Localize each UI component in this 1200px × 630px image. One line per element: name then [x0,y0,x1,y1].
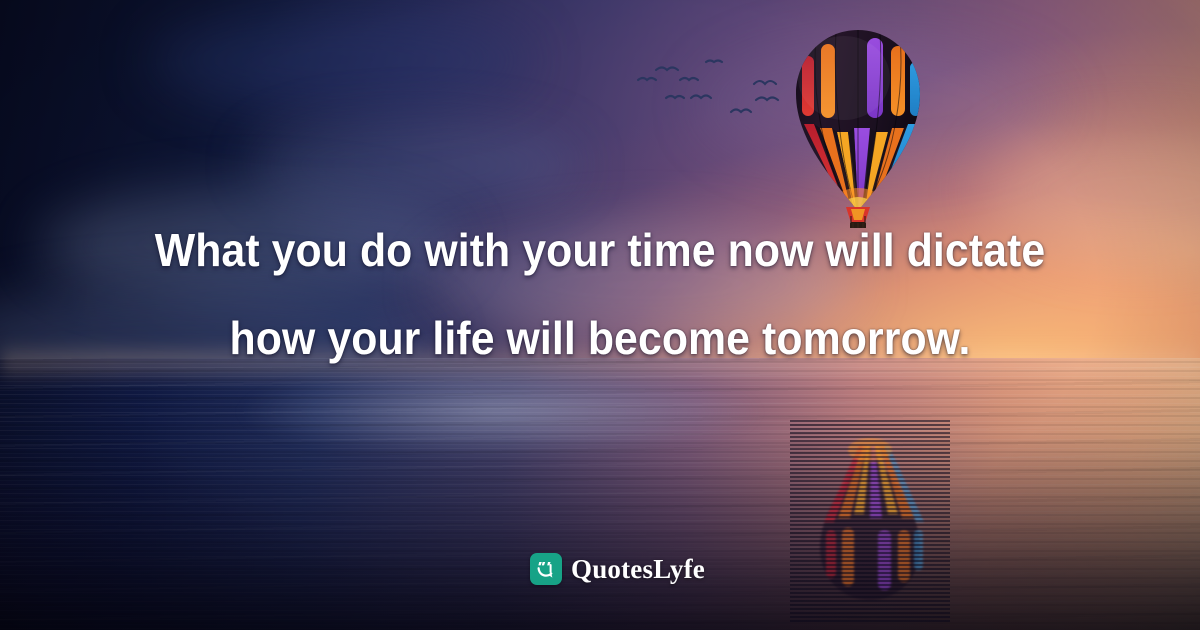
water-surface [0,358,1200,630]
brand-name: QuotesLyfe [571,553,705,585]
water-shadow-overlay [0,358,1200,630]
hot-air-balloon [790,28,926,228]
quote-smiley-icon [530,553,562,585]
quote-card: What you do with your time now will dict… [0,0,1200,630]
cloud-wisp [150,10,530,110]
cloud-wisp [250,120,580,210]
bird-flock-icon [636,56,786,136]
balloon-reflection [800,418,940,618]
quote-text: What you do with your time now will dict… [98,206,1102,382]
brand-logo[interactable]: QuotesLyfe [530,553,705,585]
